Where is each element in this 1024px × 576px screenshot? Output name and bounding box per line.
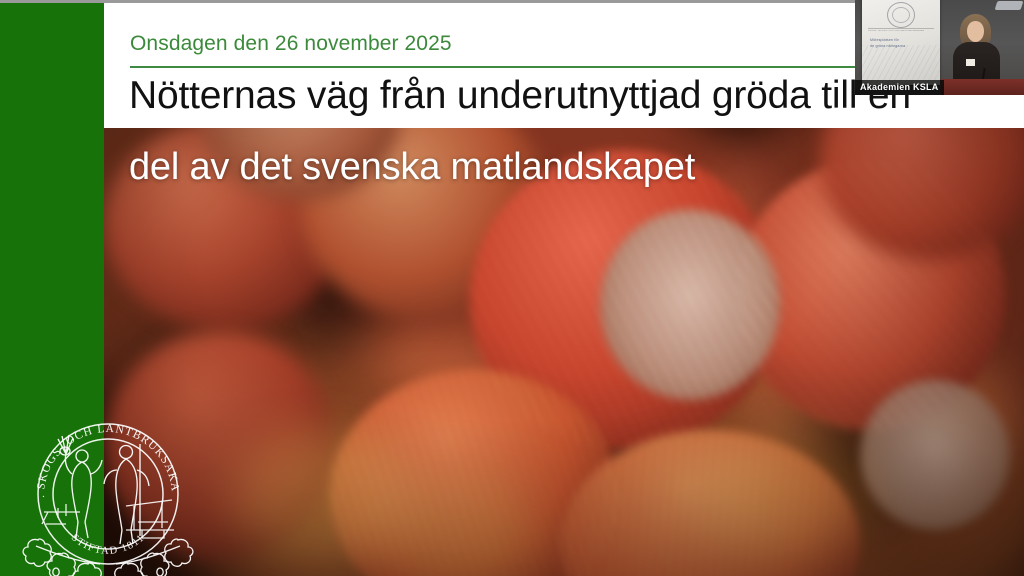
presentation-board: KUNGL. SKOGS- OCH LANTBRUKSAKADEMIEN Möt… [862,0,940,85]
board-headline-1: Mötesplatsen för [870,38,934,43]
video-overlay-thumbnail[interactable]: KUNGL. SKOGS- OCH LANTBRUKSAKADEMIEN Möt… [855,0,1024,95]
slide-title-line-2: del av det svenska matlandskapet [129,146,695,189]
speaker-name-badge [966,59,975,66]
board-fineprint: KUNGL. SKOGS- OCH LANTBRUKSAKADEMIEN [868,30,934,32]
slide-date: Onsdagen den 26 november 2025 [130,32,452,56]
slide-stage: Onsdagen den 26 november 2025 Nötternas … [0,0,1024,576]
ceiling-light-icon [995,1,1024,10]
board-hairline [868,28,934,29]
board-wave-graphic [862,45,940,85]
slide-title-line-1: Nötternas väg från underutnyttjad gröda … [129,74,911,118]
video-channel-label: Akademien KSLA [855,80,944,95]
left-green-band [0,0,104,576]
speaker-face [967,21,984,42]
title-divider-rule [130,66,855,68]
board-crest-icon [887,2,915,28]
podium [941,79,1024,95]
